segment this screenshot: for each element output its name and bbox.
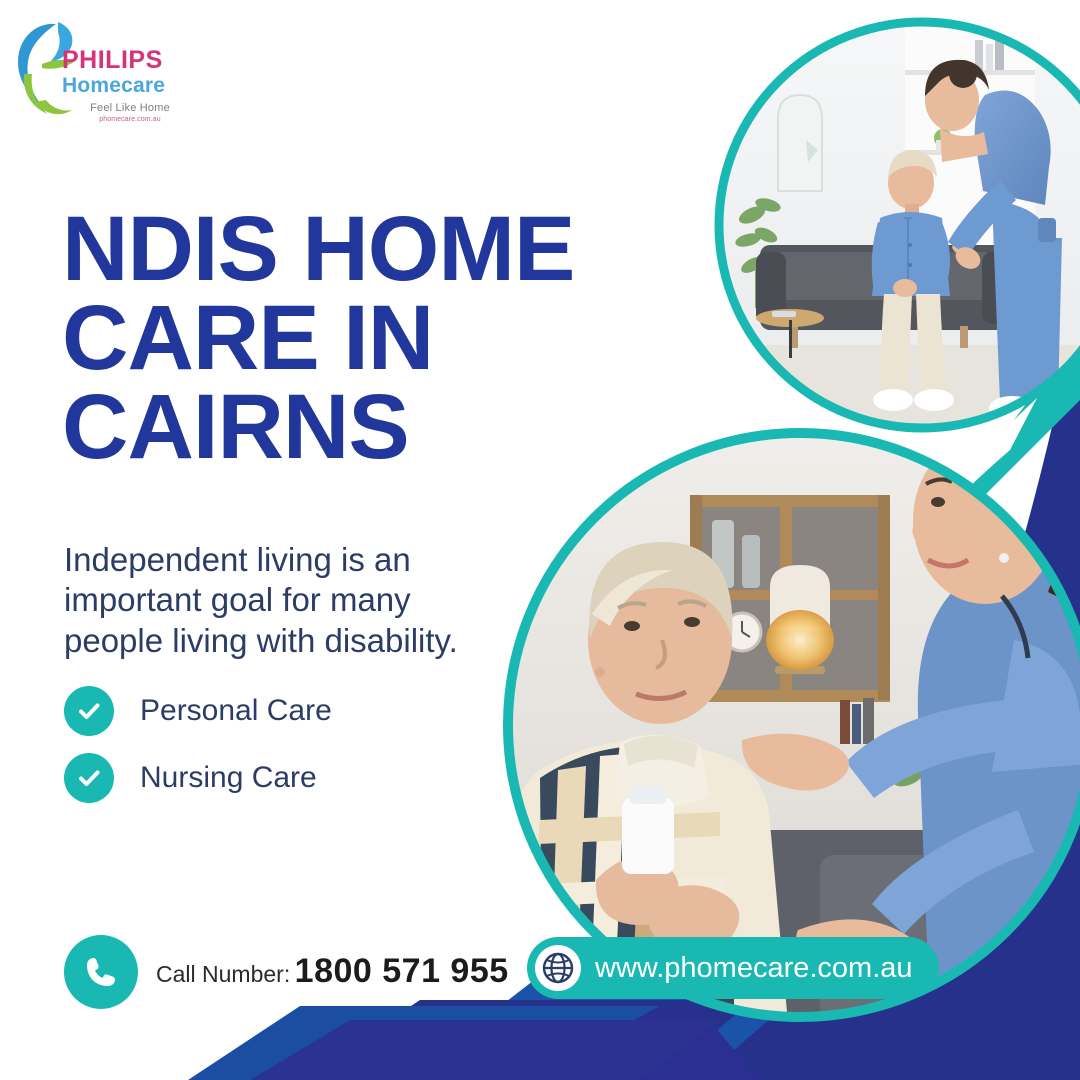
- headline-line-2: CARE IN: [62, 294, 702, 383]
- call-label: Call Number:: [156, 961, 290, 987]
- logo-tagline: Feel Like Home: [62, 102, 192, 114]
- call-text: Call Number: 1800 571 955: [156, 952, 509, 991]
- logo-name-primary: PHILIPS: [62, 48, 192, 73]
- list-item: Personal Care: [64, 686, 332, 736]
- list-item-label: Personal Care: [140, 696, 332, 726]
- phone-icon: [64, 935, 138, 1009]
- list-item: Nursing Care: [64, 753, 332, 803]
- website-url: www.phomecare.com.au: [595, 954, 913, 983]
- list-item-label: Nursing Care: [140, 763, 317, 793]
- logo-url: phomecare.com.au: [62, 116, 192, 123]
- subheading: Independent living is an important goal …: [64, 540, 534, 661]
- service-list: Personal Care Nursing Care: [64, 686, 332, 820]
- logo-name-secondary: Homecare: [62, 74, 192, 98]
- globe-icon: [535, 945, 581, 991]
- call-number: 1800 571 955: [295, 952, 509, 990]
- subheading-line-1: Independent living is an: [64, 540, 534, 580]
- subheading-line-3: people living with disability.: [64, 621, 534, 661]
- subheading-line-2: important goal for many: [64, 580, 534, 620]
- check-circle-icon: [64, 753, 114, 803]
- website-pill[interactable]: www.phomecare.com.au: [527, 937, 939, 999]
- brand-logo[interactable]: PHILIPS Homecare Feel Like Home phomecar…: [12, 18, 192, 136]
- headline-line-3: CAIRNS: [62, 383, 702, 472]
- poster-canvas: PHILIPS Homecare Feel Like Home phomecar…: [0, 0, 1080, 1080]
- call-number-block[interactable]: Call Number: 1800 571 955: [64, 935, 509, 1009]
- page-title: NDIS HOME CARE IN CAIRNS: [62, 205, 702, 473]
- headline-line-1: NDIS HOME: [62, 205, 702, 294]
- check-circle-icon: [64, 686, 114, 736]
